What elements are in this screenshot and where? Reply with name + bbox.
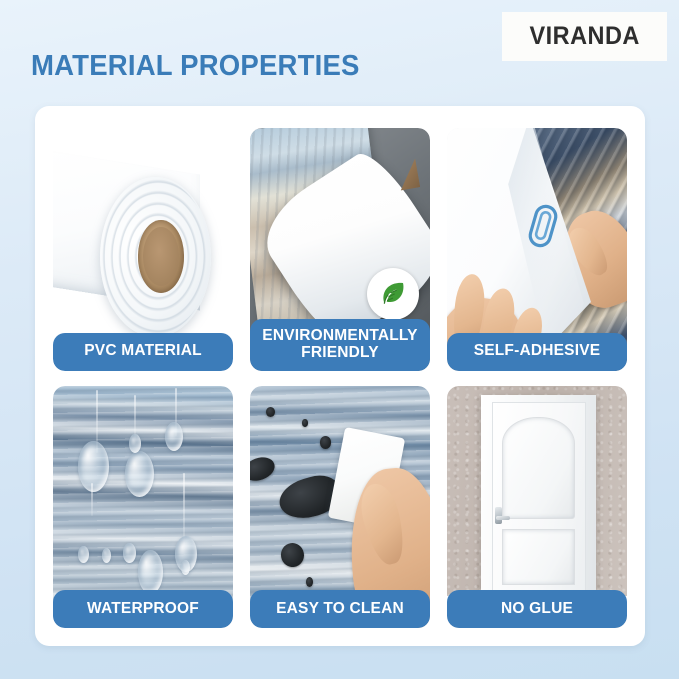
stain-small-2 <box>302 419 307 426</box>
feature-grid: PVC MATERIAL <box>53 128 627 628</box>
brand-logo: VIRANDA <box>502 12 667 61</box>
feature-label-pvc-material: PVC MATERIAL <box>53 333 233 371</box>
feature-cell-waterproof[interactable]: WATERPROOF <box>53 386 233 629</box>
door-handle-bar <box>496 516 510 520</box>
drop-trail-2 <box>134 395 136 439</box>
stain-small-4 <box>306 577 313 587</box>
door-handle <box>495 507 502 524</box>
water-drop-7 <box>78 546 89 563</box>
leaf-icon <box>367 268 419 320</box>
feature-label-easy-to-clean: EASY TO CLEAN <box>250 590 430 628</box>
water-drop-10 <box>181 560 190 575</box>
door-panel-top <box>502 417 575 519</box>
feature-card: PVC MATERIAL <box>35 106 645 646</box>
water-drop-3 <box>165 422 183 451</box>
drop-trail-5 <box>183 473 185 546</box>
page-title: MATERIAL PROPERTIES <box>31 50 360 83</box>
water-drop-5 <box>138 550 163 594</box>
door-panel-bottom <box>502 529 575 586</box>
door-leaf <box>492 402 586 594</box>
water-drop-2 <box>125 451 154 497</box>
pvc-roll-core-inner <box>143 227 179 285</box>
stain-small-3 <box>320 436 331 448</box>
feature-cell-environmentally-friendly[interactable]: ENVIRONMENTALLYFRIENDLY <box>250 128 430 371</box>
feature-cell-self-adhesive[interactable]: SELF-ADHESIVE <box>447 128 627 371</box>
feature-label-environmentally-friendly: ENVIRONMENTALLYFRIENDLY <box>250 319 430 371</box>
feature-label-waterproof: WATERPROOF <box>53 590 233 628</box>
feature-cell-pvc-material[interactable]: PVC MATERIAL <box>53 128 233 371</box>
feature-label-no-glue: NO GLUE <box>447 590 627 628</box>
feature-cell-no-glue[interactable]: NO GLUE <box>447 386 627 629</box>
page-header: MATERIAL PROPERTIES VIRANDA <box>0 0 679 106</box>
feature-cell-easy-to-clean[interactable]: EASY TO CLEAN <box>250 386 430 629</box>
water-drop-9 <box>123 543 136 562</box>
drop-trail-4 <box>91 483 93 517</box>
water-drop-1 <box>78 441 109 492</box>
water-drop-8 <box>102 548 111 563</box>
brand-logo-text: VIRANDA <box>529 22 639 51</box>
feature-label-self-adhesive: SELF-ADHESIVE <box>447 333 627 371</box>
